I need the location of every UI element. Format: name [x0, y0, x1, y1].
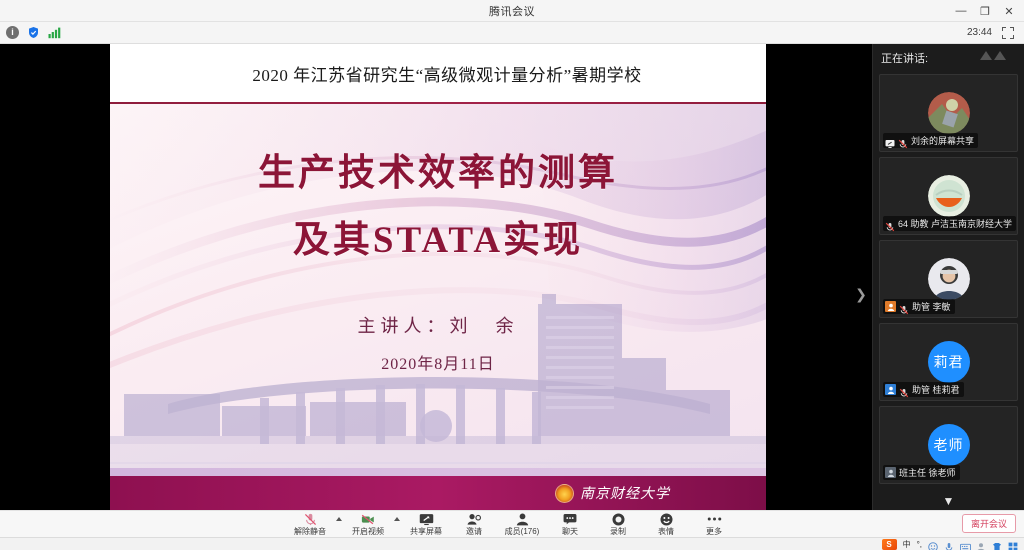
microphone-muted-icon: [304, 513, 317, 526]
presentation-slide: 2020 年江苏省研究生“高级微观计量分析”暑期学校: [110, 44, 766, 510]
os-taskbar: S 中 °,: [0, 537, 1024, 550]
slide-body: 生产技术效率的测算 及其STATA实现 主讲人：刘 余 2020年8月11日 南…: [110, 104, 766, 510]
emoji-button[interactable]: 表情: [642, 511, 690, 538]
ime-punctuation-toggle[interactable]: °,: [917, 540, 922, 549]
more-button[interactable]: 更多: [690, 511, 738, 538]
sogou-ime-logo-icon[interactable]: S: [882, 539, 897, 550]
avatar: [928, 175, 970, 217]
slide-footer-accent: [110, 468, 766, 476]
emoji-icon[interactable]: [928, 539, 938, 549]
microphone-muted-icon: [885, 219, 895, 229]
minimize-button[interactable]: —: [950, 1, 972, 21]
info-icon[interactable]: i: [6, 26, 19, 39]
status-icon-group: i: [6, 26, 61, 39]
toolbar-label: 表情: [658, 527, 674, 536]
window-title-bar: 腾讯会议 — ❐ ✕: [0, 0, 1024, 22]
more-dots-icon: [707, 513, 722, 526]
meeting-status-bar: i 23:44: [0, 22, 1024, 44]
screen-share-icon: [419, 513, 434, 526]
share-screen-button[interactable]: 共享屏幕: [402, 511, 450, 538]
participant-name-row: 刘余的屏幕共享: [883, 133, 978, 148]
participant-name: 64 助教 卢洁玉南京财经大学: [898, 217, 1012, 230]
participant-tile[interactable]: 老师 班主任 徐老师: [879, 406, 1018, 484]
slide-header-text: 2020 年江苏省研究生“高级微观计量分析”暑期学校: [234, 61, 641, 86]
participants-icon: [516, 513, 529, 526]
participant-tile[interactable]: 助管 李敏: [879, 240, 1018, 318]
chat-bubble-icon: [563, 513, 577, 526]
participants-button[interactable]: 成员(176): [498, 511, 546, 538]
avatar-initials: 莉君: [934, 352, 964, 372]
audio-options-caret[interactable]: [334, 511, 344, 538]
toolbar-label: 成员(176): [505, 527, 540, 536]
record-button[interactable]: 录制: [594, 511, 642, 538]
active-speaker-label: 正在讲话:: [881, 50, 928, 66]
participant-name-row: 64 助教 卢洁玉南京财经大学: [883, 216, 1016, 231]
audio-wave-icon: [980, 51, 1006, 60]
meeting-clock: 23:44: [967, 27, 992, 38]
emoji-smile-icon: [660, 513, 673, 526]
start-video-button[interactable]: 开启视频: [344, 511, 392, 538]
toolbar-label: 解除静音: [294, 527, 326, 536]
microphone-muted-icon: [899, 302, 909, 312]
slide-presenter: 主讲人：刘 余: [110, 312, 766, 338]
toolbar-label: 更多: [706, 527, 722, 536]
avatar-photo-icon: [928, 175, 970, 217]
toolbar-label: 共享屏幕: [410, 527, 442, 536]
university-seal-icon: [555, 484, 574, 503]
signal-bars-icon[interactable]: [48, 26, 61, 39]
shield-icon[interactable]: [27, 26, 40, 39]
keyboard-icon[interactable]: [960, 539, 970, 549]
microphone-muted-icon: [899, 385, 909, 395]
avatar-photo-icon: [928, 92, 970, 134]
host-role-icon: [885, 467, 896, 478]
university-logo: 南京财经大学: [555, 483, 670, 503]
avatar: 莉君: [928, 341, 970, 383]
participant-tile[interactable]: 64 助教 卢洁玉南京财经大学: [879, 157, 1018, 235]
assistant-role-icon: [885, 384, 896, 395]
toolbar-label: 开启视频: [352, 527, 384, 536]
microphone-muted-icon: [898, 136, 908, 146]
toolbar-label: 邀请: [466, 527, 482, 536]
window-controls: — ❐ ✕: [950, 0, 1020, 22]
fullscreen-icon[interactable]: [1002, 27, 1014, 39]
assistant-role-icon: [885, 301, 896, 312]
avatar-photo-icon: [928, 258, 970, 300]
toolbar-label: 聊天: [562, 527, 578, 536]
participant-name: 助管 李敏: [912, 300, 951, 313]
record-circle-icon: [612, 513, 625, 526]
participant-tile[interactable]: 莉君 助管 桂莉君: [879, 323, 1018, 401]
participant-tile[interactable]: 刘余的屏幕共享: [879, 74, 1018, 152]
shared-screen-stage: 2020 年江苏省研究生“高级微观计量分析”暑期学校: [0, 44, 872, 510]
participant-name-row: 助管 桂莉君: [883, 382, 964, 397]
close-button[interactable]: ✕: [998, 1, 1020, 21]
video-options-caret[interactable]: [392, 511, 402, 538]
ime-mode-label[interactable]: 中: [903, 539, 911, 550]
avatar: [928, 258, 970, 300]
screen-share-icon: [885, 136, 895, 146]
participant-name-row: 助管 李敏: [883, 299, 955, 314]
chat-button[interactable]: 聊天: [546, 511, 594, 538]
participant-name-row: 班主任 徐老师: [883, 465, 960, 480]
microphone-icon[interactable]: [944, 539, 954, 549]
participant-name: 班主任 徐老师: [899, 466, 956, 479]
slide-title-line1: 生产技术效率的测算: [110, 142, 766, 196]
skin-icon[interactable]: [992, 539, 1002, 549]
avatar: 老师: [928, 424, 970, 466]
participant-name: 刘余的屏幕共享: [911, 134, 974, 147]
active-speaker-row: 正在讲话:: [873, 44, 1024, 72]
slide-title-line2: 及其STATA实现: [110, 209, 766, 263]
toolbox-icon[interactable]: [1008, 539, 1018, 549]
maximize-button[interactable]: ❐: [974, 1, 996, 21]
invite-person-icon: [467, 513, 481, 526]
leave-meeting-button[interactable]: 离开会议: [962, 514, 1016, 533]
window-title: 腾讯会议: [489, 3, 535, 19]
invite-button[interactable]: 邀请: [450, 511, 498, 538]
camera-muted-icon: [361, 513, 375, 526]
scroll-down-icon[interactable]: ▼: [873, 495, 1024, 507]
participant-sidebar: 正在讲话: 刘余的屏幕共享: [872, 44, 1024, 510]
avatar: [928, 92, 970, 134]
participant-name: 助管 桂莉君: [912, 383, 960, 396]
status-bar-right: 23:44: [967, 27, 1018, 39]
slide-footer-band: 南京财经大学: [110, 476, 766, 510]
meeting-toolbar: 解除静音 开启视频 共享屏幕 邀请 成员(176) 聊天: [0, 510, 1024, 537]
slide-date: 2020年8月11日: [110, 350, 766, 374]
unmute-button[interactable]: 解除静音: [286, 511, 334, 538]
chevron-right-icon[interactable]: ❯: [854, 282, 868, 306]
toolbar-label: 录制: [610, 527, 626, 536]
university-name: 南京财经大学: [580, 483, 670, 503]
avatar-initials: 老师: [934, 435, 964, 455]
user-icon[interactable]: [976, 539, 986, 549]
slide-header-band: 2020 年江苏省研究生“高级微观计量分析”暑期学校: [110, 44, 766, 102]
